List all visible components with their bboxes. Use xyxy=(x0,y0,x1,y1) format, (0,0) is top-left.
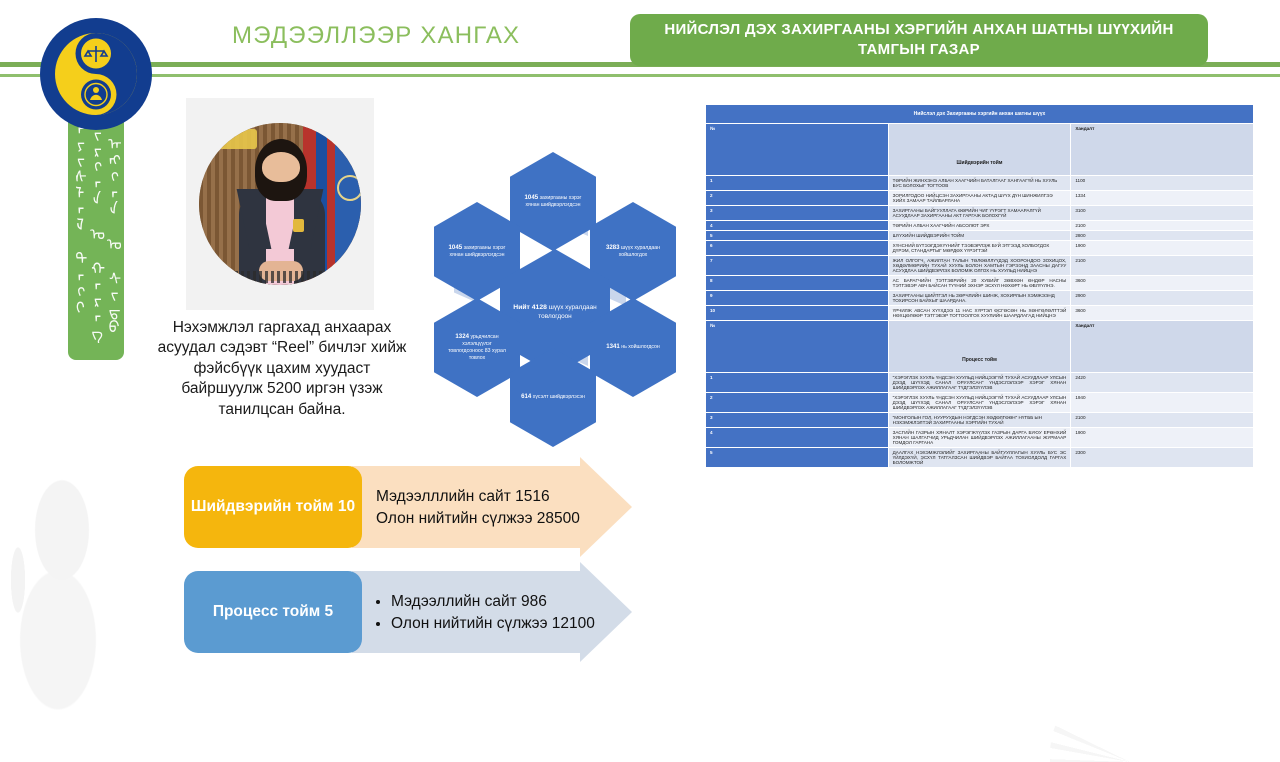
table-cell-topic: ЗОРИЛГОДОО НИЙЦСЭН ЗАХИРГААНЫ АКТАД ШҮҮХ… xyxy=(888,191,1071,206)
table-cell-views: 2100 xyxy=(1071,221,1254,231)
table-row: 7ЖИЛ ОЛГОГЧ, АЖИЛТАН ТАЛЫН ТӨЛӨӨЛЛҮҮДЭД … xyxy=(706,256,1254,276)
table-cell-topic: ДААЛГАХ НЭХЭМЖЛЭЛИЙГ ЗАХИРГААНЫ БАЙГУУЛЛ… xyxy=(888,448,1071,468)
table-header-row-process: №Процесс тоймХандалт xyxy=(706,321,1254,373)
ornament-watermark xyxy=(1030,640,1230,720)
organization-name: НИЙСЛЭЛ ДЭХ ЗАХИРГААНЫ ХЭРГИЙН АНХАН ШАТ… xyxy=(630,20,1208,61)
table-cell-no: 1 xyxy=(706,176,889,191)
callout-decision-line-1: Мэдээлллийн сайт 1516 xyxy=(376,486,616,508)
hex-node-right-lower-number: 1341 xyxy=(606,343,620,350)
callout-process-line-2: Олон нийтийн сүлжээ 12100 xyxy=(391,613,616,635)
callout-pill-decision: Шийдвэрийн тойм 10 xyxy=(184,466,362,548)
table-row: 9ЗАХИРГААНЫ ШИЙТГЭЛ НЬ ЗӨРЧЛИЙН ШИНЖ, ХО… xyxy=(706,291,1254,306)
table-cell-topic: ШҮҮХИЙН ШИЙДВЭРИЙН ТОЙМ xyxy=(888,231,1071,241)
table-cell-views: 1900 xyxy=(1071,428,1254,448)
table-cell-views: 3100 xyxy=(1071,206,1254,221)
table-col-topic: Шийдвэрийн тойм xyxy=(888,124,1071,176)
table-row: 4ТӨРИЙН АЛБАН ХААГЧИЙН АБСОЛЮТ ЭРХ2100 xyxy=(706,221,1254,231)
table-cell-topic: ТӨРИЙН ЖИНХЭНЭ АЛБАН ХААГЧИЙН БАТАЛГААГ … xyxy=(888,176,1071,191)
table-cell-no: 1 xyxy=(706,373,889,393)
table-cell-topic: ҮРЧИЛЖ АВСАН ХҮҮХДЭЭ 11 НАС ХҮРТЭЛ ӨСГӨС… xyxy=(888,306,1071,321)
table-row: 8АС БАРАГЧИЙН ТЭТГЭВРИЙН 20 ХУВИЙГ ЗӨВХӨ… xyxy=(706,276,1254,291)
table-header-row-decisions: №Шийдвэрийн тоймХандалт xyxy=(706,124,1254,176)
summary-table: Нийслэл дэх Захиргааны хэргийн анхан шат… xyxy=(705,104,1254,468)
table-row: 1"ХЭРЭГЛЭХ ХУУЛЬ ҮНДСЭН ХУУЛЬД НИЙЦЭЭГҮЙ… xyxy=(706,373,1254,393)
table-col-views: Хандалт xyxy=(1071,321,1254,373)
table-cell-views: 2420 xyxy=(1071,373,1254,393)
callout-process-lines: Мэдээллийн сайт 986 Олон нийтийн сүлжээ … xyxy=(376,591,616,636)
table-cell-views: 3600 xyxy=(1071,276,1254,291)
table-col-no: № xyxy=(706,124,889,176)
hex-node-center-label: шүүх хуралдаан товлогдоон xyxy=(538,304,596,320)
hex-node-top: 1045 захиргааны хэрэг хянан шийдвэрлэгдс… xyxy=(510,152,596,251)
table-row: 2"ХЭРЭГЛЭХ ХУУЛЬ ҮНДСЭН ХУУЛЬД НИЙЦЭЭГҮЙ… xyxy=(706,393,1254,413)
table-col-no: № xyxy=(706,321,889,373)
table-cell-no: 6 xyxy=(706,241,889,256)
table-cell-topic: ЗАХИРГААНЫ БАЙГУУЛЛАГА ӨӨРИЙН ЧИГ ҮҮРЭГТ… xyxy=(888,206,1071,221)
table-cell-no: 7 xyxy=(706,256,889,276)
table-row: 3"МОНГОЛЫН ГОЛ, НУУРУУДЫН НЭГДСЭН ХӨДӨЛГ… xyxy=(706,413,1254,428)
table-cell-topic: "ХЭРЭГЛЭХ ХУУЛЬ ҮНДСЭН ХУУЛЬД НИЙЦЭЭГҮЙ … xyxy=(888,393,1071,413)
table-cell-views: 2900 xyxy=(1071,291,1254,306)
avatar xyxy=(199,123,361,285)
table-cell-topic: ЗАСГИЙН ГАЗРЫН ХЯНАЛТ ХЭРЭГЖҮҮЛЭХ ГАЗРЫН… xyxy=(888,428,1071,448)
table-title: Нийслэл дэх Захиргааны хэргийн анхан шат… xyxy=(706,105,1254,124)
organization-badge: НИЙСЛЭЛ ДЭХ ЗАХИРГААНЫ ХЭРГИЙН АНХАН ШАТ… xyxy=(630,14,1208,66)
table-cell-views: 1100 xyxy=(1071,176,1254,191)
statue-watermark xyxy=(0,460,130,720)
table-cell-topic: ХҮНСНИЙ БҮТЭЭГДЭХҮҮНИЙГ ТЭЭВЭРЛЭЖ БУЙ ЭТ… xyxy=(888,241,1071,256)
table-cell-views: 2800 xyxy=(1071,231,1254,241)
table-cell-no: 3 xyxy=(706,413,889,428)
table-cell-no: 4 xyxy=(706,221,889,231)
callout-pill-process: Процесс тойм 5 xyxy=(184,571,362,653)
callout-pill-decision-label: Шийдвэрийн тойм 10 xyxy=(191,497,355,516)
hex-node-center-number: Нийт 4128 xyxy=(513,304,547,311)
table-row: 1ТӨРИЙН ЖИНХЭНЭ АЛБАН ХААГЧИЙН БАТАЛГААГ… xyxy=(706,176,1254,191)
table-cell-views: 2100 xyxy=(1071,256,1254,276)
table-cell-views: 3600 xyxy=(1071,306,1254,321)
portrait-caption: Нэхэмжлэл гаргахад анхаарах асуудал сэдэ… xyxy=(152,318,412,420)
table-cell-views: 1940 xyxy=(1071,393,1254,413)
table-cell-topic: ЖИЛ ОЛГОГЧ, АЖИЛТАН ТАЛЫН ТӨЛӨӨЛЛҮҮДЭД Х… xyxy=(888,256,1071,276)
table-cell-no: 2 xyxy=(706,393,889,413)
portrait-card xyxy=(186,98,374,310)
table-row: 4ЗАСГИЙН ГАЗРЫН ХЯНАЛТ ХЭРЭГЖҮҮЛЭХ ГАЗРЫ… xyxy=(706,428,1254,448)
hexagon-diagram: 1045 захиргааны хэрэг хянан шийдвэрлэгдс… xyxy=(412,150,702,410)
hex-node-bottom-label: хүсэлт шийдвэрлэсэн xyxy=(533,394,585,400)
hex-node-left-upper-number: 1045 xyxy=(449,244,463,251)
table-cell-topic: АС БАРАГЧИЙН ТЭТГЭВРИЙН 20 ХУВИЙГ ЗӨВХӨН… xyxy=(888,276,1071,291)
table-row: 10ҮРЧИЛЖ АВСАН ХҮҮХДЭЭ 11 НАС ХҮРТЭЛ ӨСГ… xyxy=(706,306,1254,321)
table-row: 5ДААЛГАХ НЭХЭМЖЛЭЛИЙГ ЗАХИРГААНЫ БАЙГУУЛ… xyxy=(706,448,1254,468)
table-col-topic: Процесс тойм xyxy=(888,321,1071,373)
table-row: 6ХҮНСНИЙ БҮТЭЭГДЭХҮҮНИЙГ ТЭЭВЭРЛЭЖ БУЙ Э… xyxy=(706,241,1254,256)
table-cell-views: 1900 xyxy=(1071,241,1254,256)
hex-node-right-upper-label: шүүх хуралдаан хойшлогдох xyxy=(619,245,660,258)
hex-node-bottom-number: 614 xyxy=(521,393,531,400)
table-row: 3ЗАХИРГААНЫ БАЙГУУЛЛАГА ӨӨРИЙН ЧИГ ҮҮРЭГ… xyxy=(706,206,1254,221)
table-row: 2ЗОРИЛГОДОО НИЙЦСЭН ЗАХИРГААНЫ АКТАД ШҮҮ… xyxy=(706,191,1254,206)
table-cell-no: 10 xyxy=(706,306,889,321)
table-cell-no: 2 xyxy=(706,191,889,206)
table-row: 5ШҮҮХИЙН ШИЙДВЭРИЙН ТОЙМ2800 xyxy=(706,231,1254,241)
callout-decision-lines: Мэдээлллийн сайт 1516 Олон нийтийн сүлжэ… xyxy=(376,486,616,531)
table-cell-no: 4 xyxy=(706,428,889,448)
callout-process-summary: Процесс тойм 5 Мэдээллийн сайт 986 Олон … xyxy=(184,571,634,653)
table-cell-no: 5 xyxy=(706,448,889,468)
hex-node-right-lower-label: нь хойшлогдсон xyxy=(621,344,660,350)
table-cell-views: 1334 xyxy=(1071,191,1254,206)
court-emblem-icon xyxy=(38,16,154,96)
table-cell-no: 3 xyxy=(706,206,889,221)
table-cell-topic: ТӨРИЙН АЛБАН ХААГЧИЙН АБСОЛЮТ ЭРХ xyxy=(888,221,1071,231)
hex-node-left-lower-number: 1324 xyxy=(455,333,469,340)
callout-decision-summary: Шийдвэрийн тойм 10 Мэдээлллийн сайт 1516… xyxy=(184,466,634,548)
table-cell-views: 2100 xyxy=(1071,413,1254,428)
hex-node-right-upper-number: 3283 xyxy=(606,244,620,251)
hex-node-bottom: 614 хүсэлт шийдвэрлэсэн xyxy=(510,348,596,447)
callout-decision-line-2: Олон нийтийн сүлжээ 28500 xyxy=(376,508,616,530)
table-cell-no: 8 xyxy=(706,276,889,291)
table-cell-no: 9 xyxy=(706,291,889,306)
table-cell-topic: ЗАХИРГААНЫ ШИЙТГЭЛ НЬ ЗӨРЧЛИЙН ШИНЖ, ХОХ… xyxy=(888,291,1071,306)
callout-process-line-1: Мэдээллийн сайт 986 xyxy=(391,591,616,613)
table-cell-topic: "МОНГОЛЫН ГОЛ, НУУРУУДЫН НЭГДСЭН ХӨДӨЛГӨ… xyxy=(888,413,1071,428)
table-cell-views: 2300 xyxy=(1071,448,1254,468)
callout-pill-process-label: Процесс тойм 5 xyxy=(213,602,333,621)
table-cell-no: 5 xyxy=(706,231,889,241)
header-rule-secondary xyxy=(0,74,1280,77)
hex-node-top-number: 1045 xyxy=(525,194,539,201)
table-col-views: Хандалт xyxy=(1071,124,1254,176)
table-cell-topic: "ХЭРЭГЛЭХ ХУУЛЬ ҮНДСЭН ХУУЛЬД НИЙЦЭЭГҮЙ … xyxy=(888,373,1071,393)
page-title: МЭДЭЭЛЛЭЭР ХАНГАХ xyxy=(232,22,520,50)
